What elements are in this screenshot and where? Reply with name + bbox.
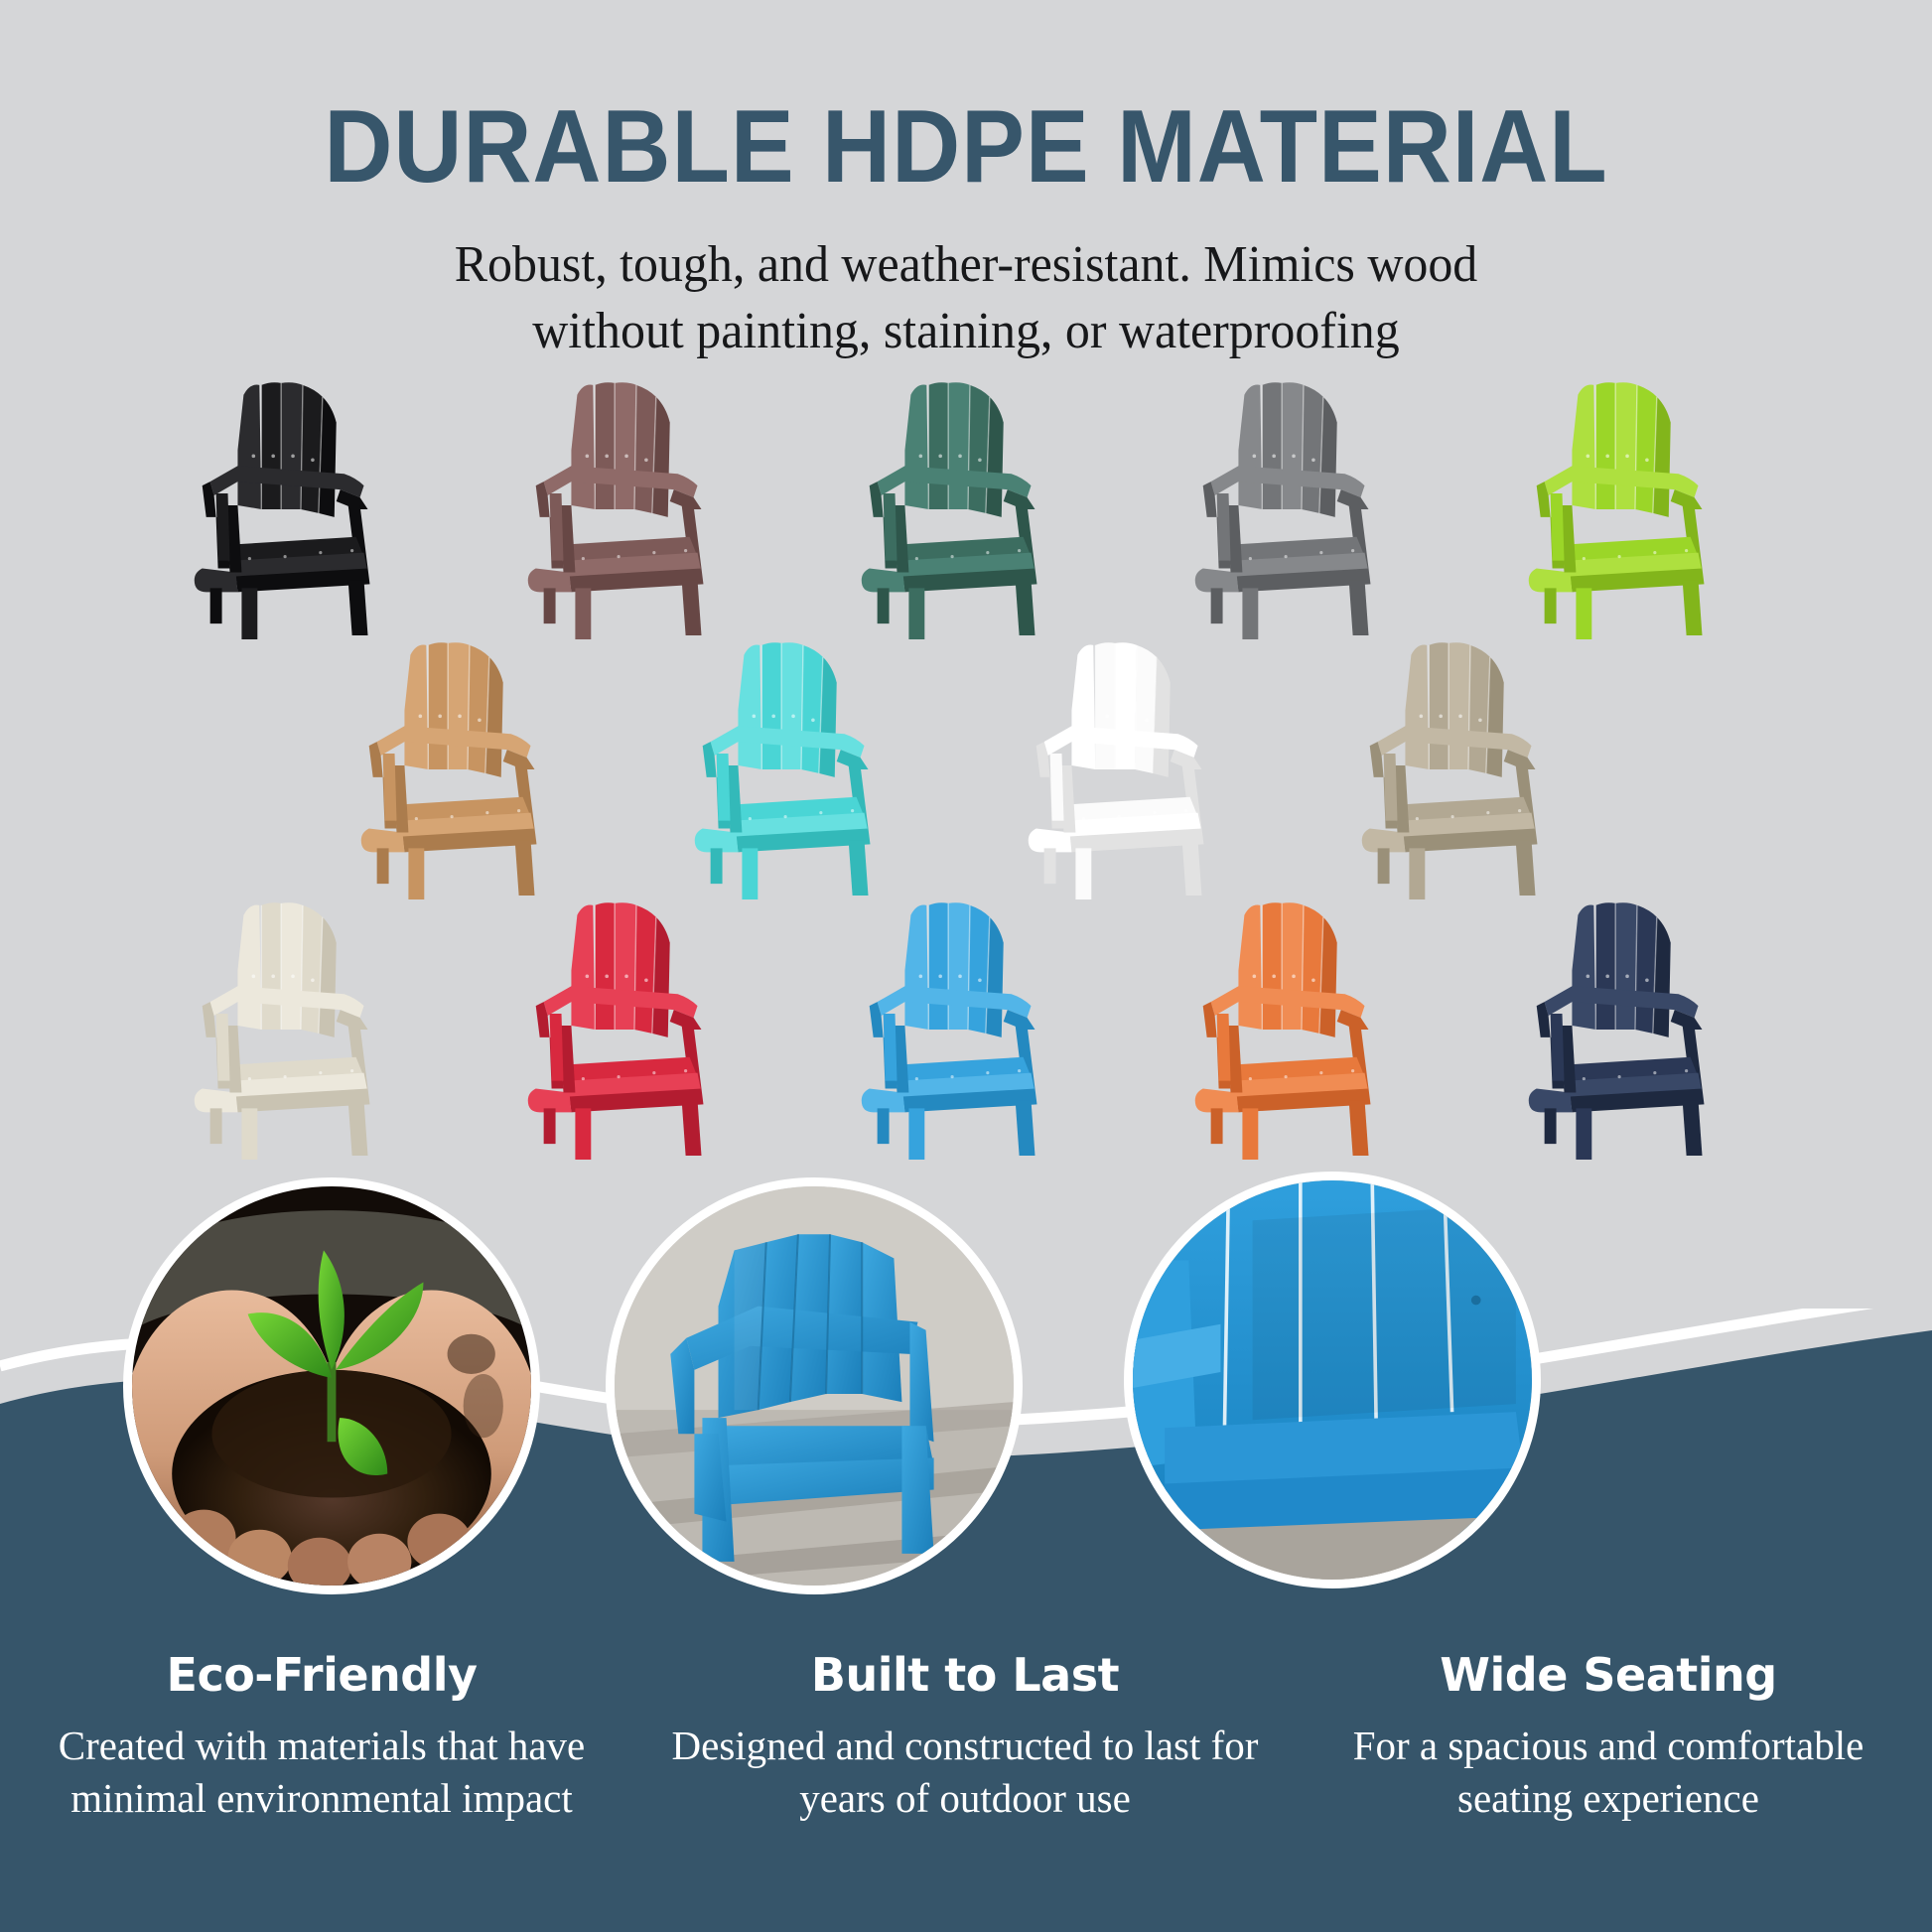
feature-caption-eco-friendly: Eco-Friendly Created with materials that… — [0, 1648, 643, 1826]
chair-black[interactable] — [149, 363, 449, 639]
chair-row-2 — [0, 623, 1932, 899]
chair-orange[interactable] — [1150, 884, 1449, 1160]
feature-captions: Eco-Friendly Created with materials that… — [0, 1648, 1932, 1826]
feature-heading: Eco-Friendly — [0, 1648, 643, 1702]
chair-dark-green[interactable] — [816, 363, 1116, 639]
feature-text: Created with materials that have minimal… — [0, 1720, 643, 1826]
infographic-canvas: DURABLE HDPE MATERIAL Robust, tough, and… — [0, 0, 1932, 1932]
chair-navy[interactable] — [1483, 884, 1783, 1160]
feature-image-row — [0, 1177, 1932, 1614]
page-subtitle: Robust, tough, and weather-resistant. Mi… — [394, 232, 1538, 364]
feature-text: Designed and constructed to last for yea… — [643, 1720, 1287, 1826]
chair-row-3 — [0, 884, 1932, 1160]
chair-white[interactable] — [983, 623, 1283, 899]
feature-heading: Built to Last — [643, 1648, 1287, 1702]
blue-adirondack-chair-photo — [606, 1177, 1023, 1594]
feature-text: For a spacious and comfortable seating e… — [1287, 1720, 1930, 1826]
page-title: DURABLE HDPE MATERIAL — [77, 0, 1855, 199]
chair-color-grid — [0, 363, 1932, 1160]
blue-chair-seat-closeup-photo — [1124, 1172, 1541, 1588]
chair-taupe[interactable] — [1316, 623, 1616, 899]
seedling-in-hands-photo — [123, 1177, 540, 1594]
chair-row-1 — [0, 363, 1932, 639]
chair-lime-green[interactable] — [1483, 363, 1783, 639]
chair-gray[interactable] — [1150, 363, 1449, 639]
chair-brown[interactable] — [483, 363, 782, 639]
feature-caption-wide-seating: Wide Seating For a spacious and comforta… — [1287, 1648, 1930, 1826]
feature-caption-built-to-last: Built to Last Designed and constructed t… — [643, 1648, 1287, 1826]
feature-heading: Wide Seating — [1287, 1648, 1930, 1702]
header: DURABLE HDPE MATERIAL Robust, tough, and… — [0, 0, 1932, 364]
chair-teak-tan[interactable] — [316, 623, 616, 899]
chair-light-blue[interactable] — [816, 884, 1116, 1160]
chair-turquoise[interactable] — [649, 623, 949, 899]
chair-ivory[interactable] — [149, 884, 449, 1160]
chair-crimson[interactable] — [483, 884, 782, 1160]
